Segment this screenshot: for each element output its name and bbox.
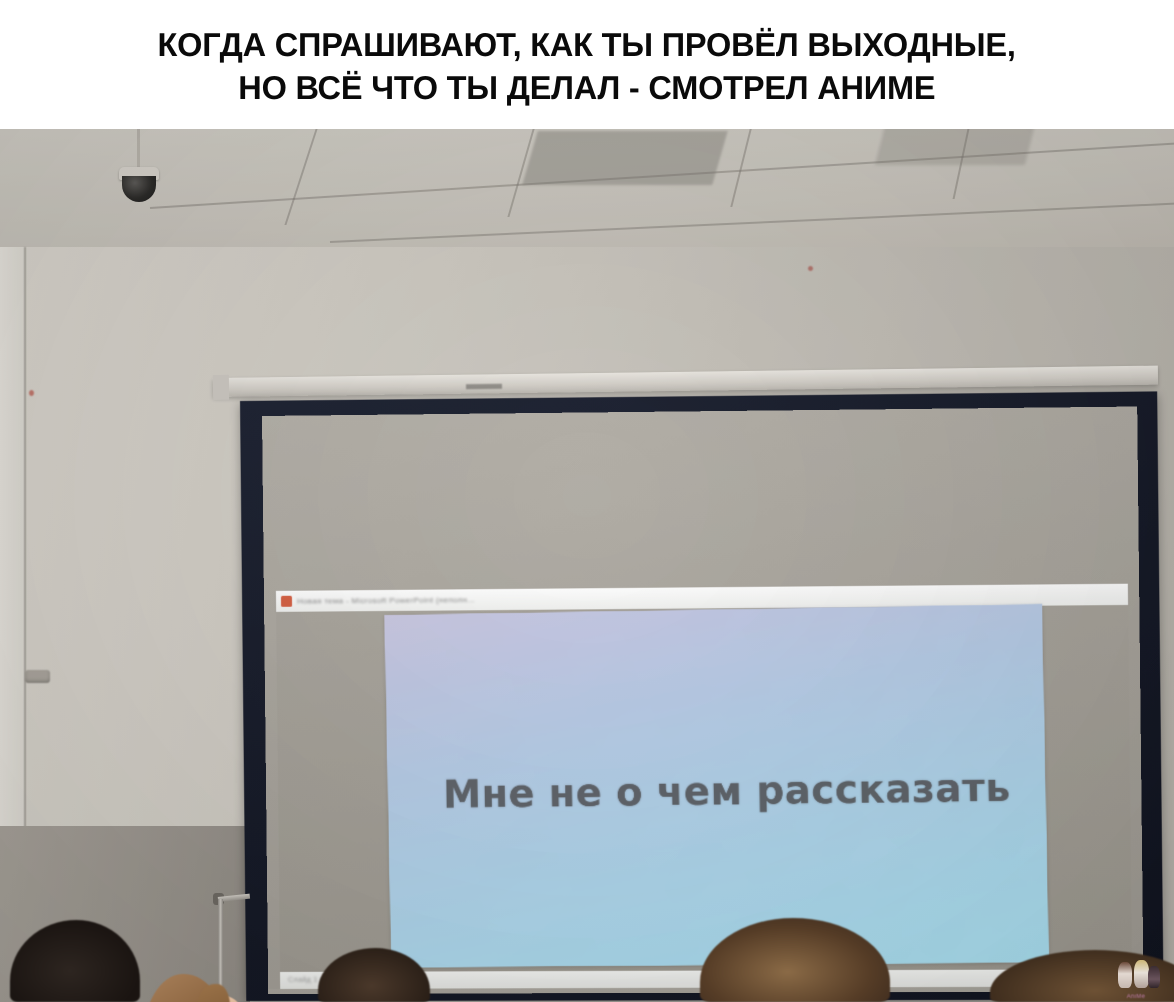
anime-watermark: AniMe <box>1104 956 1168 1000</box>
wall-marker-dot <box>29 390 34 396</box>
projector-screen-label <box>466 384 502 389</box>
caption-line-1: КОГДА СПРАШИВАЮТ, КАК ТЫ ПРОВЁЛ ВЫХОДНЫЕ… <box>158 24 1016 67</box>
projector-screen-roller-cap <box>213 375 229 400</box>
watermark-figure-right <box>1134 960 1149 988</box>
wall-marker-dot <box>808 266 813 271</box>
window-title: Новая тема - Microsoft PowerPoint (непол… <box>297 595 475 605</box>
meme-caption-band: КОГДА СПРАШИВАЮТ, КАК ТЫ ПРОВЁЛ ВЫХОДНЫЕ… <box>0 0 1174 129</box>
slide-text: Мне не о чем рассказать <box>443 765 1011 816</box>
ceiling-grid-line <box>330 202 1174 243</box>
watermark-label: AniMe <box>1104 994 1168 1000</box>
lecture-hall-photo: Новая тема - Microsoft PowerPoint (непол… <box>0 129 1174 1002</box>
watermark-figure-left <box>1118 962 1132 988</box>
ceiling-grid-line <box>730 129 751 207</box>
presenter-figure <box>118 974 283 1002</box>
ceiling-grid-line <box>284 129 317 225</box>
presentation-slide[interactable]: Мне не о чем рассказать <box>384 604 1049 968</box>
powerpoint-icon <box>281 596 292 607</box>
wall-fixture <box>25 670 50 683</box>
watermark-figure-far <box>1148 966 1160 988</box>
projection-screen-surface: Новая тема - Microsoft PowerPoint (непол… <box>262 407 1144 994</box>
camera-mount-stem <box>137 129 140 169</box>
caption-line-2: НО ВСЁ ЧТО ТЫ ДЕЛАЛ - СМОТРЕЛ АНИМЕ <box>238 67 935 110</box>
